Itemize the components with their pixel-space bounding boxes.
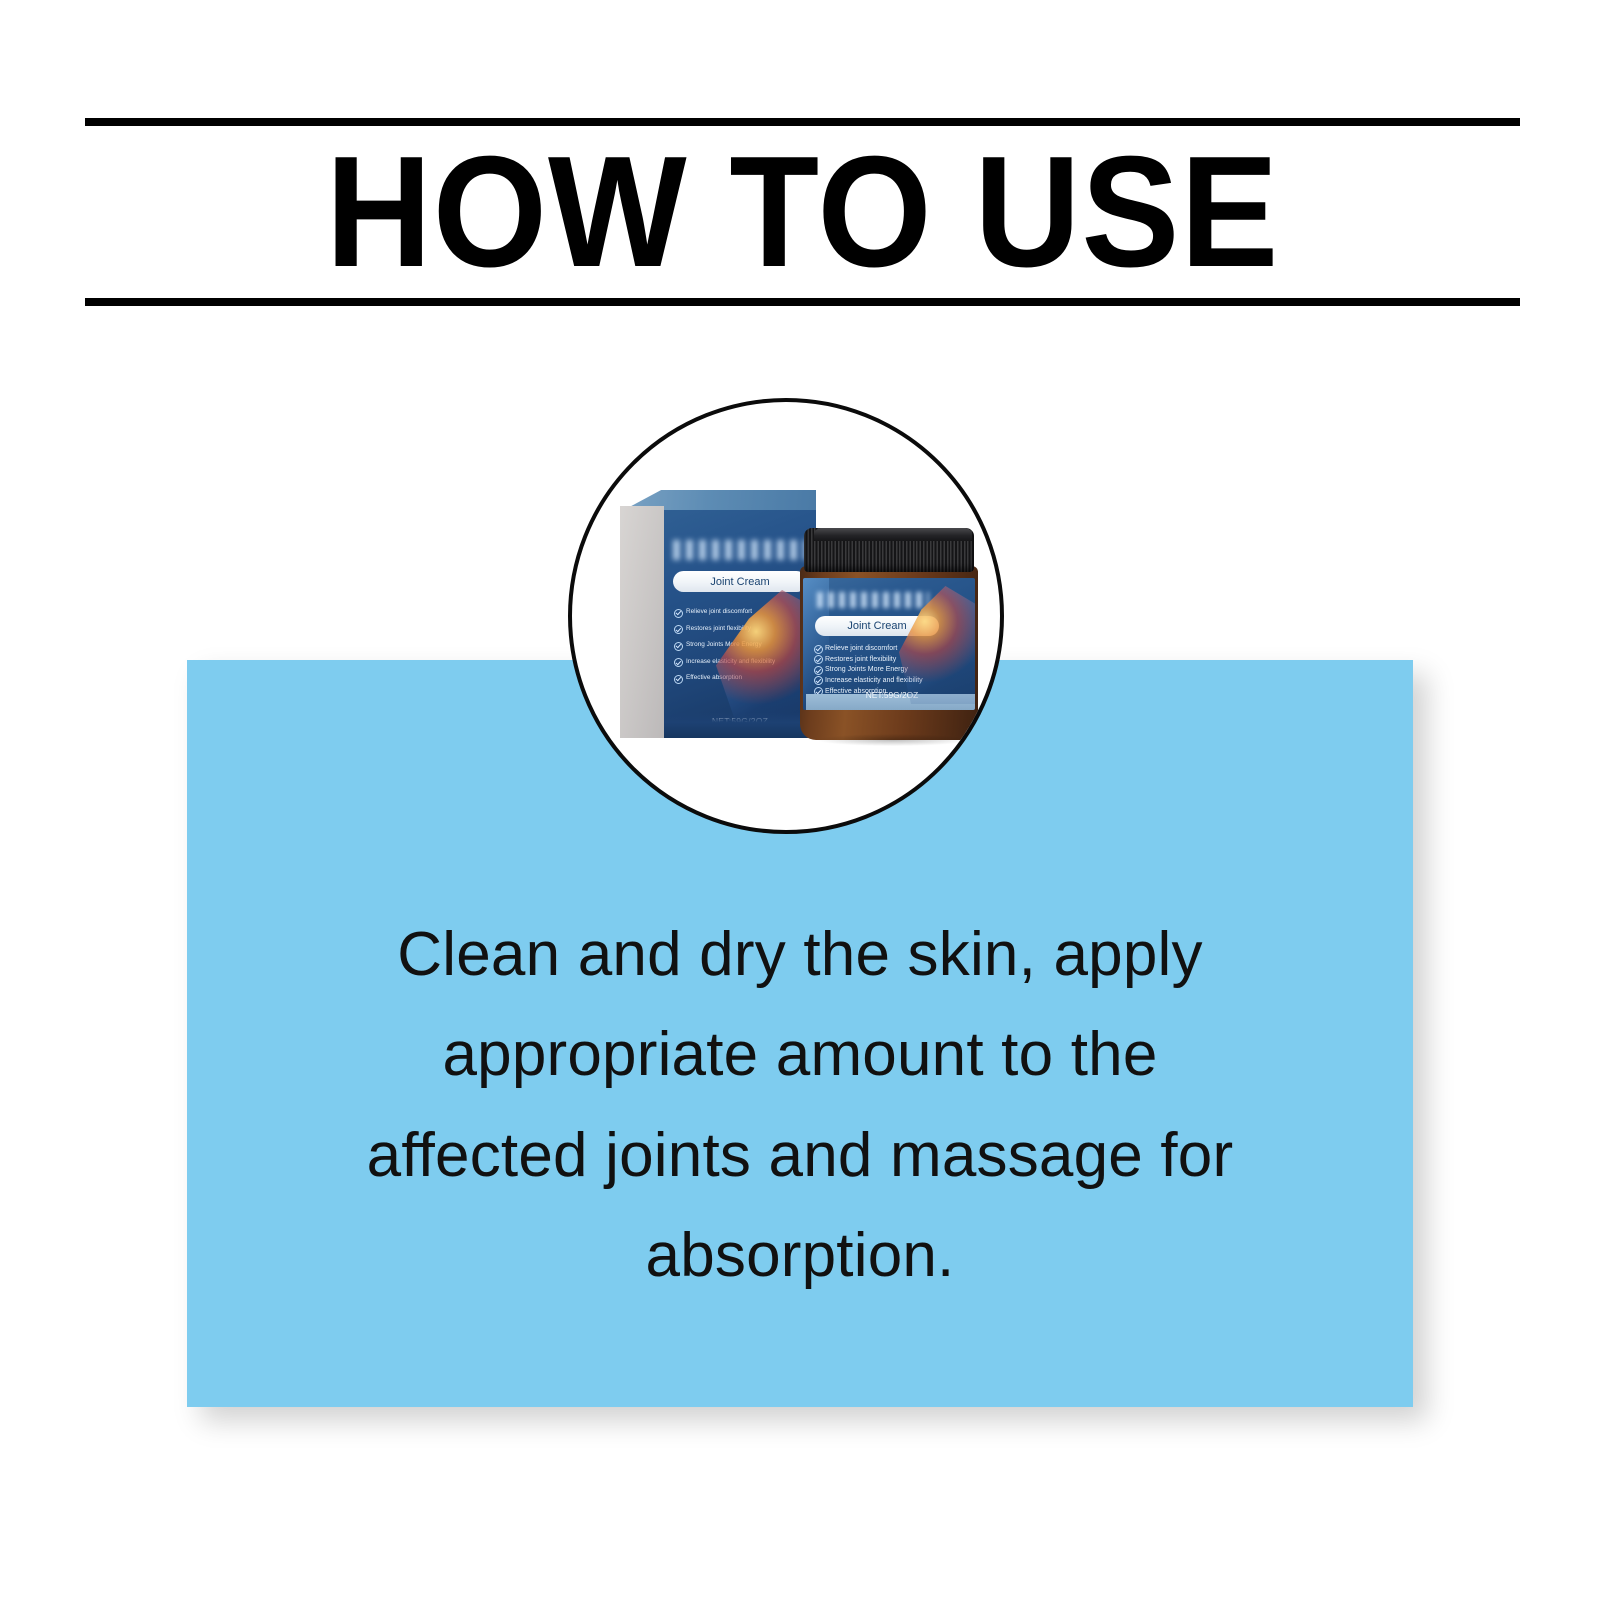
jar-bullet-label: Increase elasticity and flexibility	[825, 676, 923, 687]
carton-base-shade	[664, 712, 816, 738]
jar-net-weight: NET:59G/2OZ	[806, 690, 975, 700]
carton-bullet-item: Effective absorption	[674, 674, 778, 684]
jar-bullet-label: Relieve joint discomfort	[825, 644, 897, 655]
jar-brand-name	[817, 592, 929, 608]
carton-product-name: Joint Cream	[673, 571, 807, 592]
jar-lid-top	[814, 528, 972, 541]
check-circle-icon	[674, 642, 683, 651]
jar-bullet-item: Increase elasticity and flexibility	[814, 676, 954, 687]
check-circle-icon	[674, 675, 683, 684]
carton-bullet-label: Strong Joints More Energy	[686, 641, 762, 650]
carton-bullet-item: Increase elasticity and flexibility	[674, 658, 778, 668]
carton-bullet-label: Increase elasticity and flexibility	[686, 658, 775, 667]
check-circle-icon	[814, 666, 823, 675]
jar-bullet-item: Relieve joint discomfort	[814, 644, 954, 655]
jar-bullet-item: Strong Joints More Energy	[814, 665, 954, 676]
jar-label: Joint Cream Relieve joint discomfort Res…	[803, 578, 975, 710]
carton-bullet-label: Restores joint flexibility	[686, 625, 751, 634]
carton-bullet-list: Relieve joint discomfort Restores joint …	[674, 608, 778, 691]
carton-bullet-item: Strong Joints More Energy	[674, 641, 778, 651]
jar-bullet-label: Strong Joints More Energy	[825, 665, 908, 676]
carton-front-face: Joint Cream Relieve joint discomfort Res…	[664, 510, 816, 738]
check-circle-icon	[674, 609, 683, 618]
carton-bullet-item: Restores joint flexibility	[674, 625, 778, 635]
instruction-text: Clean and dry the skin, apply appropriat…	[325, 905, 1275, 1307]
jar-product-name: Joint Cream	[815, 616, 939, 636]
carton-bullet-label: Relieve joint discomfort	[686, 608, 752, 617]
product-carton: Joint Cream Relieve joint discomfort Res…	[620, 490, 816, 738]
check-circle-icon	[814, 655, 823, 664]
jar-bullet-item: Restores joint flexibility	[814, 655, 954, 666]
page-header: HOW TO USE	[85, 118, 1520, 306]
page-title: HOW TO USE	[135, 118, 1470, 306]
carton-bullet-label: Effective absorption	[686, 674, 742, 683]
jar-lid	[804, 528, 974, 572]
product-photo: Joint Cream Relieve joint discomfort Res…	[572, 402, 1000, 830]
product-jar: Joint Cream Relieve joint discomfort Res…	[800, 528, 978, 740]
carton-side-face	[620, 506, 664, 738]
carton-brand-name	[673, 540, 807, 560]
check-circle-icon	[674, 658, 683, 667]
check-circle-icon	[814, 676, 823, 685]
header-rule-bottom	[85, 298, 1520, 306]
jar-bullet-label: Restores joint flexibility	[825, 655, 896, 666]
jar-ground-shadow	[818, 734, 968, 746]
check-circle-icon	[814, 645, 823, 654]
check-circle-icon	[674, 625, 683, 634]
carton-bullet-item: Relieve joint discomfort	[674, 608, 778, 618]
product-image-circle: Joint Cream Relieve joint discomfort Res…	[568, 398, 1004, 834]
